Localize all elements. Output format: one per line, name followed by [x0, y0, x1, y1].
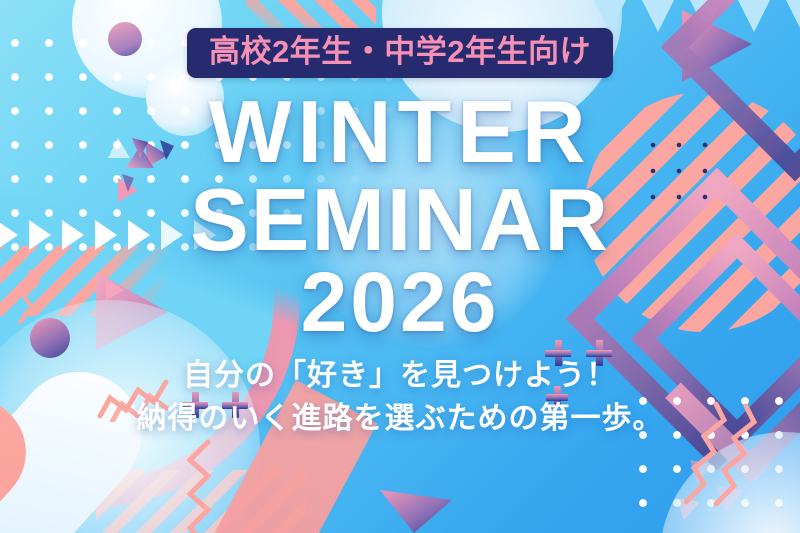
tagline-line-1: 自分の「好き」を見つけよう！ [137, 355, 664, 398]
banner-content: 高校2年生・中学2年生向け WINTER SEMINAR 2026 自分の「好き… [0, 0, 800, 533]
title-line-seminar: SEMINAR [190, 178, 610, 262]
tagline: 自分の「好き」を見つけよう！ 納得のいく進路を選ぶための第一歩。 [137, 355, 664, 440]
winter-seminar-banner: 高校2年生・中学2年生向け WINTER SEMINAR 2026 自分の「好き… [0, 0, 800, 533]
title-line-winter: WINTER [208, 90, 591, 174]
target-audience-badge: 高校2年生・中学2年生向け [187, 28, 613, 78]
tagline-line-2: 納得のいく進路を選ぶための第一歩。 [137, 398, 664, 441]
title-line-year: 2026 [301, 263, 500, 343]
